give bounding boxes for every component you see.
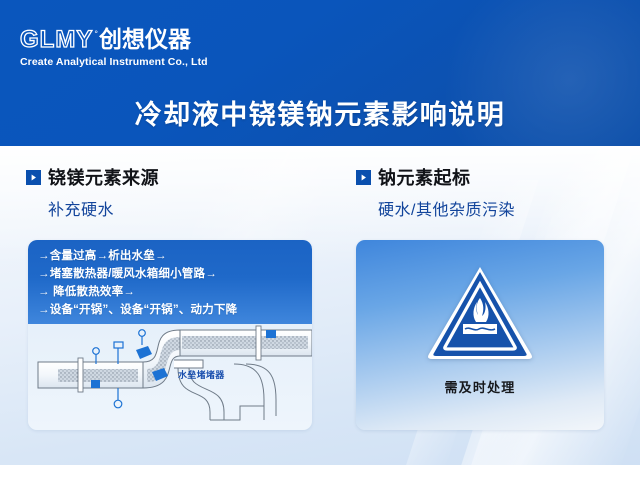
cause-chain-line: →堵塞散热器/暖风水箱细小管路→ [38,265,304,283]
right-column: 钠元素起标 硬水/其他杂质污染 [356,165,614,220]
logo-company-name-cn: 创想仪器 [99,27,191,51]
right-content-card: 需及时处理 [356,240,604,430]
cause-chain-line: →设备“开锅”、设备“开锅”、动力下降 [38,301,304,319]
slide-root: GLMY ° 创想仪器 Create Analytical Instrument… [0,0,640,480]
left-content-card: →含量过高→析出水垒→ →堵塞散热器/暖风水箱细小管路→ → 降低散热效率→ →… [28,240,312,430]
left-section-subtitle: 补充硬水 [48,196,326,220]
right-section-header: 钠元素起标 [356,165,614,189]
bottom-white-strip [0,465,640,480]
cause-chain-line: →含量过高→析出水垒→ [38,247,304,265]
logo-wordmark: GLMY [20,28,93,52]
page-title: 冷却液中铙镁钠元素影响说明 [135,93,506,132]
illustration-label: 水垒堵堵器 [178,368,225,381]
logo-row: GLMY ° 创想仪器 [20,27,208,53]
hot-surface-warning-triangle-icon [426,264,534,365]
left-section-header: 铙镁元素来源 [26,165,326,189]
right-section-title: 钠元素起标 [378,164,471,190]
header-bar: GLMY ° 创想仪器 Create Analytical Instrument… [0,0,640,146]
title-band: 冷却液中铙镁钠元素影响说明 [0,86,640,138]
logo-trademark-icon: ° [94,30,98,39]
pipe-scaling-illustration: 水垒堵堵器 [28,324,312,430]
cause-chain-line: → 降低散热效率→ [38,283,304,301]
play-triangle-icon [26,170,41,185]
play-triangle-icon [356,170,371,185]
warning-caption: 需及时处理 [444,377,515,396]
left-column: 铙镁元素来源 补充硬水 [26,165,326,220]
brand-logo: GLMY ° 创想仪器 Create Analytical Instrument… [20,27,208,68]
left-section-title: 铙镁元素来源 [48,164,159,190]
cause-chain-box: →含量过高→析出水垒→ →堵塞散热器/暖风水箱细小管路→ → 降低散热效率→ →… [28,240,312,324]
logo-tagline: Create Analytical Instrument Co., Ltd [20,56,208,68]
right-section-subtitle: 硬水/其他杂质污染 [378,196,614,220]
